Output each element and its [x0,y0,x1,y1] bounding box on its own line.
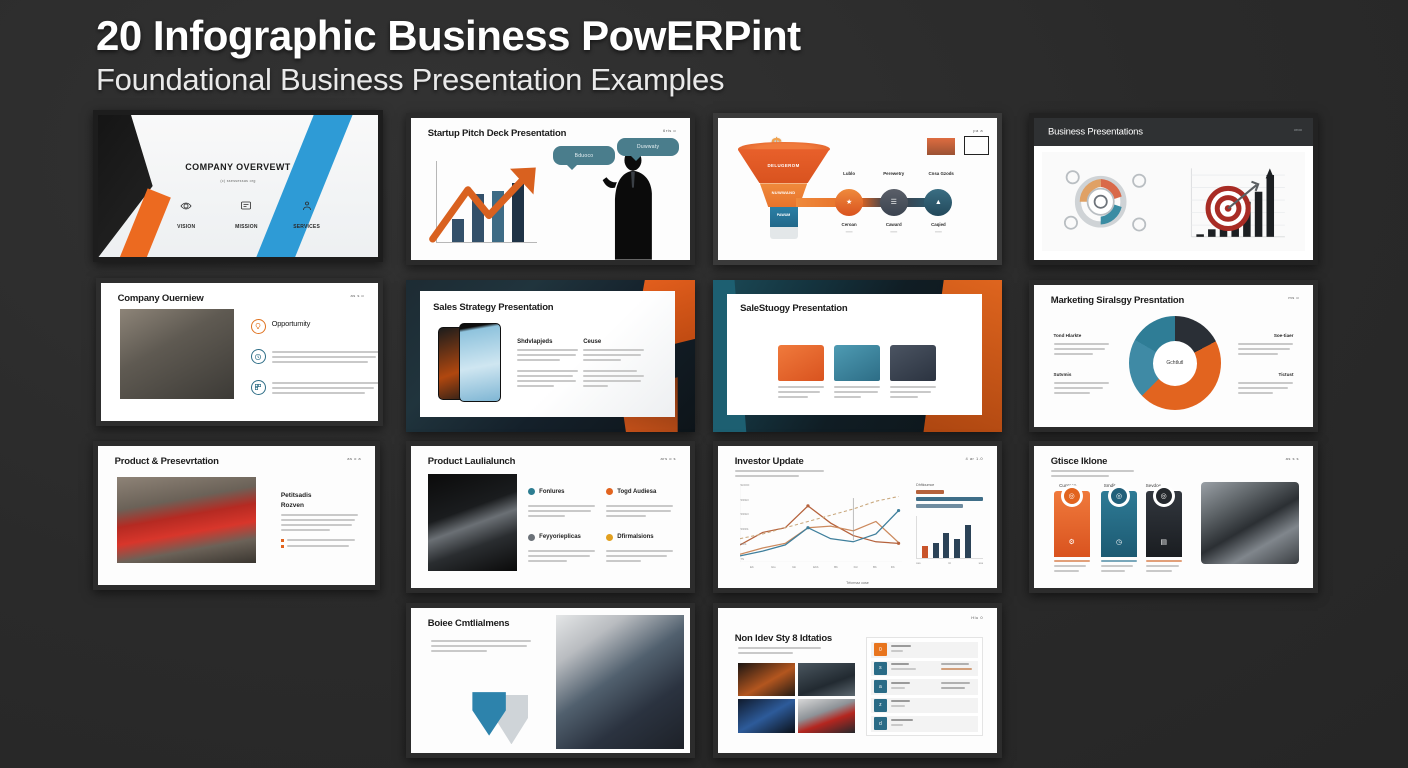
funnel-stage-3-label: PAWUM [765,213,801,217]
page-header: 20 Infographic Business PowERPint Founda… [96,14,801,97]
photo-2 [798,663,855,696]
slide-canvas: Company Ouerniew as s o Opportumity [101,283,378,421]
callout-label-3: Soe-tiaer [1274,333,1294,338]
photo-3 [738,699,795,732]
slide-subheading: (c) ssessessas org [98,179,378,183]
side-legend-title: Dhftioumce [916,483,983,487]
mission-label: MISSION [235,224,258,230]
funnel-stage-3 [770,207,798,227]
slide-canvas: pa a $ DELUGEROM NUWWAND PAWUM ★ ☰ ▲ Lub… [718,118,997,260]
feature-2: Togd Audiesa [606,483,673,520]
two-men-photo [556,615,684,748]
slide-canvas: Investor Update 4 ar 1.0 [718,446,997,588]
node-top-label-1: Lublo [830,171,869,176]
slide-heading: COMPANY OVERVEWT [98,162,378,172]
legend-bar-1 [916,490,944,494]
connector-1 [796,198,841,208]
corner-mark: croo [1294,127,1302,132]
thumb-frame: Startup Pitch Deck Presentation 6rts o [406,113,695,265]
slide-canvas: Gtisce Iklone as s s Cuntoen Smdit Sevdo… [1034,446,1313,588]
list-item [251,349,378,366]
panel-2-sub-icon: ◷ [1116,538,1122,546]
slide-canvas: Business Presentations croo [1034,118,1313,260]
panel-2-caption [1101,560,1137,575]
icon-row: VISION MISSION SERVICES [165,200,327,233]
clock-icon [254,353,262,361]
callout-text-2 [1054,382,1110,397]
opportunity-icon [251,319,266,334]
vision-item: VISION [165,200,207,233]
slide-thumbnail-startup-pitch-deck[interactable]: Startup Pitch Deck Presentation 6rts o [406,113,695,265]
callout-label-2: Sutvmis [1054,372,1072,377]
slide-header-bar: Business Presentations croo [1034,118,1313,146]
side-xtick-1: sss [916,561,921,565]
slide-thumbnail-investor-update[interactable]: Investor Update 4 ar 1.0 [713,441,1002,593]
side-bar-2 [933,543,939,558]
donut-hub-label: Gchtlutl [1129,316,1221,410]
list-item[interactable]: a [871,679,978,695]
feature-1: Fonlures [528,483,595,520]
chevron-shape-1 [472,692,505,736]
block-caption-2 [834,386,880,401]
funnel-base [770,227,798,238]
thumb-frame: Investor Update 4 ar 1.0 [713,441,1002,593]
slide-canvas: COMPANY OVERVEWT (c) ssessessas org VISI… [98,115,378,257]
stage-node-3: ▲ [924,189,952,216]
block-shape-2 [834,345,880,381]
services-item: SERVICES [286,200,328,233]
slide-heading: Sales Strategy Presentation [433,302,553,313]
slide-canvas: Product & Presevrtation as o a Petitsadi… [98,446,375,585]
list-badge: z [874,699,887,712]
eye-icon [180,200,192,212]
column-1: Shdvlapjeds [517,339,578,390]
slide-thumbnail-salestuogy[interactable]: SaleStuogy Presentation [713,280,1002,432]
callout-label-1: Tond Hlarkte [1054,333,1082,338]
list-item [251,380,378,397]
x-tick-6: Dd [854,565,858,569]
x-tick-1: Eb [750,565,754,569]
dark-car-photo [428,474,517,571]
corner-mark: 4 ar 1.0 [965,456,983,461]
slide-canvas: Sales Strategy Presentation Shdvlapjeds … [406,280,695,432]
list-badge: a [874,680,887,693]
list-badge: s [874,662,887,675]
slide-thumbnail-gtisce-iklone[interactable]: Gtisce Iklone as s s Cuntoen Smdit Sevdo… [1029,441,1318,593]
list-item[interactable]: s [871,661,978,677]
thumb-frame: Gtisce Iklone as s s Cuntoen Smdit Sevdo… [1029,441,1318,593]
speech-bubble-1: Bduoco [553,146,614,164]
x-tick-4: Ebb [813,565,818,569]
side-bar-3 [943,533,949,558]
x-tick-7: Bb [873,565,877,569]
y-tick-5: SSS [740,542,746,546]
thumb-frame: Business Presentations croo [1029,113,1318,265]
block-caption-1 [778,386,824,401]
red-car-photo [117,477,256,563]
panel-3-icon: ◎ [1153,485,1175,507]
feature-2-dot [606,488,613,495]
funnel-stage-2-label: NUWWAND [757,190,810,195]
corner-mark: as o a [347,456,361,461]
corner-mark: as s o [350,293,364,298]
y-tick-3: SSSO [740,512,748,516]
slide-thumbnail-product-laulialunch[interactable]: Product Laulialunch ars o s Fonlures Tog… [406,441,695,593]
slide-canvas: Boiee Cmtlialmens [411,608,690,753]
slide-heading: Boiee Cmtlialmens [428,618,510,629]
panel-1: ◎ ⚙ [1054,491,1090,556]
node-top-label-2: Perewetry [874,171,913,176]
slide-thumbnail-grid: COMPANY OVERVEWT (c) ssessessas org VISI… [93,110,1325,758]
mission-item: MISSION [225,200,267,233]
list-item[interactable]: d [871,716,978,732]
list-item-label: Opportumity [272,319,311,328]
slide-thumbnail-boiee-cmtlialmens[interactable]: Boiee Cmtlialmens [406,603,695,758]
side-bar-chart [916,516,983,559]
x-tick-8: Db [891,565,895,569]
phone-mockup [438,323,502,401]
callout-label-4: Tictust [1279,372,1294,377]
slide-thumbnail-company-overvewt[interactable]: COMPANY OVERVEWT (c) ssessessas org VISI… [93,110,383,262]
side-charts: Dhftioumce sss ttt sss [916,483,983,565]
list-item-text [272,380,378,397]
line-chart-svg [740,484,902,562]
deck-subtext [1051,470,1135,480]
slide-canvas: Marketing Siralsgy Presntation ms o Gcht… [1034,285,1313,427]
list-item[interactable]: 0 [871,642,978,658]
vision-label: VISION [177,224,195,230]
side-xtick-3: sss [979,561,984,565]
content-card: SaleStuogy Presentation [727,294,981,416]
thumb-frame: Non Idev Sty 8 Idtatios Hlu 0 0 [713,603,1002,758]
slide-canvas: SaleStuogy Presentation [713,280,1002,432]
person-photo [120,309,234,399]
callout-text-1 [1054,343,1110,358]
feature-3-label: Feyyorieplicas [539,534,581,540]
node-bottom-label-3: Caqied [919,222,958,227]
block-shape-3 [890,345,936,381]
panel-1-sub-icon: ⚙ [1069,538,1075,546]
corner-mark: 6rts o [663,128,676,133]
side-bar-1 [922,546,928,558]
panel-1-icon: ◎ [1061,485,1083,507]
slide-heading: Company Ouerniew [118,293,204,304]
list-panel: 0 s a z [866,637,983,736]
content-card: Sales Strategy Presentation Shdvlapjeds … [420,291,674,417]
column-2: Ceuse [583,339,644,390]
gear-infographic-icon [1050,158,1165,245]
panel-3-caption [1146,560,1182,575]
people-icon [301,200,313,212]
x-tick-2: Glo [771,565,776,569]
feature-4: Dfirmalsions [606,528,673,565]
page-subtitle: Foundational Business Presentation Examp… [96,64,801,97]
line-chart: SOOO SSSO SSSO SSSS SSS 7S Eb Glo Gb Ebb… [740,484,902,562]
feature-4-label: Dfirmalsions [617,534,653,540]
side-xticks: sss ttt sss [916,561,983,565]
target-bar-chart-icon [1171,160,1297,244]
list-item: Opportumity [251,319,311,334]
x-tick-5: Bb [834,565,838,569]
panel-3-sub-icon: ▤ [1160,538,1167,546]
thumb-frame: Product & Presevrtation as o a Petitsadi… [93,441,380,590]
side-xtick-2: ttt [948,561,951,565]
x-tick-3: Gb [792,565,796,569]
corner-mark: ms o [1288,295,1299,300]
feature-2-label: Togd Audiesa [617,489,656,495]
lightbulb-icon [254,322,262,330]
envelope-icon [964,136,989,154]
block-caption-3 [890,386,936,401]
thumb-frame: SaleStuogy Presentation [713,280,1002,432]
node-bottom-label-2: Caward [874,222,913,227]
node-bottom-sub-3: ═══ [919,230,958,234]
panel-3: ◎ ▤ [1146,491,1182,556]
corner-mark: pa a [973,128,983,133]
slide-thumbnail-business-presentations[interactable]: Business Presentations croo [1029,113,1318,265]
feature-1-label: Fonlures [539,489,564,495]
side-bar-5 [965,525,971,558]
list-badge: 0 [874,643,887,656]
side-bar-4 [954,539,960,557]
slide-heading: Non Idev Sty 8 Idtatios [735,633,832,644]
node-bottom-sub-2: ═══ [874,230,913,234]
feature-3: Feyyorieplicas [528,528,595,565]
thumb-frame: Marketing Siralsgy Presntation ms o Gcht… [1029,280,1318,432]
services-label: SERVICES [293,224,320,230]
callout-text-4 [1238,382,1294,397]
slide-heading: Product Laulialunch [428,456,516,467]
slide-heading: Investor Update [735,456,804,467]
list-item-text [272,349,378,366]
flag-icon [240,200,252,212]
subhead-2: Rozven [281,502,359,509]
copy-block: Petitsadis Rozven [281,492,359,548]
panel-2-icon: ◎ [1108,485,1130,507]
feature-4-dot [606,534,613,541]
column-1-title: Shdvlapjeds [517,339,578,345]
list-item[interactable]: z [871,698,978,714]
feature-1-dot [528,488,535,495]
corner-mark: Hlu 0 [971,615,983,620]
photo-4 [798,699,855,732]
subhead-1: Petitsadis [281,492,359,499]
x-axis-label: Trfcrmaz cose [718,581,997,585]
y-tick-1: SOOO [740,483,749,487]
slide-heading: Gtisce Iklone [1051,456,1108,467]
thumb-frame: Sales Strategy Presentation Shdvlapjeds … [406,280,695,432]
thumb-frame: Product Laulialunch ars o s Fonlures Tog… [406,441,695,593]
panel-1-caption [1054,560,1090,575]
feature-3-dot [528,534,535,541]
thumb-frame: Boiee Cmtlialmens [406,603,695,758]
slide-heading: Business Presentations [1048,127,1143,138]
list-badge: d [874,717,887,730]
slide-thumbnail-marketing-strategy[interactable]: Marketing Siralsgy Presntation ms o Gcht… [1029,280,1318,432]
legend-bar-3 [916,504,963,508]
chart-icon [927,138,955,155]
block-shape-1 [778,345,824,381]
stage-node-2: ☰ [880,189,908,216]
speech-bubble-2: Duwwaty [617,138,678,156]
y-tick-4: SSSS [740,527,748,531]
deck-subtext [738,647,822,657]
slide-thumbnail-non-idev-sty[interactable]: Non Idev Sty 8 Idtatios Hlu 0 0 [713,603,1002,758]
stage-node-1: ★ [835,189,863,216]
slide-canvas: Non Idev Sty 8 Idtatios Hlu 0 0 [718,608,997,753]
node-top-label-3: Cnsa Gzods [919,171,964,176]
slide-heading: SaleStuogy Presentation [740,303,847,314]
thumb-frame: pa a $ DELUGEROM NUWWAND PAWUM ★ ☰ ▲ Lub… [713,113,1002,265]
page-title: 20 Infographic Business PowERPint [96,14,801,58]
growth-arrow-icon [428,161,545,249]
thumb-frame: COMPANY OVERVEWT (c) ssessessas org VISI… [93,110,383,262]
corner-mark: ars o s [661,456,677,461]
column-2-title: Ceuse [583,339,644,345]
slide-thumbnail-sales-strategy[interactable]: Sales Strategy Presentation Shdvlapjeds … [406,280,695,432]
legend-bar-2 [916,497,983,501]
thumb-frame: Company Ouerniew as s o Opportumity [96,278,383,426]
callout-text-3 [1238,343,1294,358]
panel-2: ◎ ◷ [1101,491,1137,556]
slide-thumbnail-company-ouerniew[interactable]: Company Ouerniew as s o Opportumity [96,278,383,426]
corner-mark: as s s [1286,456,1299,461]
photo-1 [738,663,795,696]
slide-heading: Product & Presevrtation [115,456,219,467]
slide-canvas: Startup Pitch Deck Presentation 6rts o [411,118,690,260]
clock-icon-wrap [251,349,266,364]
y-tick-2: SSSO [740,498,748,502]
slide-heading: Marketing Siralsgy Presntation [1051,295,1184,306]
slide-canvas: Product Laulialunch ars o s Fonlures Tog… [411,446,690,588]
slide-thumbnail-product-presevrtation[interactable]: Product & Presevrtation as o a Petitsadi… [93,441,380,590]
slide-body [1042,152,1304,251]
funnel-stage-1-label: DELUGEROM [743,163,824,168]
laptop-photo [1201,482,1299,564]
slide-thumbnail-sales-funnel[interactable]: pa a $ DELUGEROM NUWWAND PAWUM ★ ☰ ▲ Lub… [713,113,1002,265]
node-bottom-label-1: Ceroan [830,222,869,227]
y-tick-6: 7S [740,557,744,561]
deck-subtext [431,640,531,655]
deck-subtext [735,470,824,480]
grid-icon [254,383,262,391]
photo-grid [738,663,855,733]
node-bottom-sub-1: ═══ [830,230,869,234]
slide-heading: Startup Pitch Deck Presentation [428,128,566,139]
grid-icon-wrap [251,380,266,395]
